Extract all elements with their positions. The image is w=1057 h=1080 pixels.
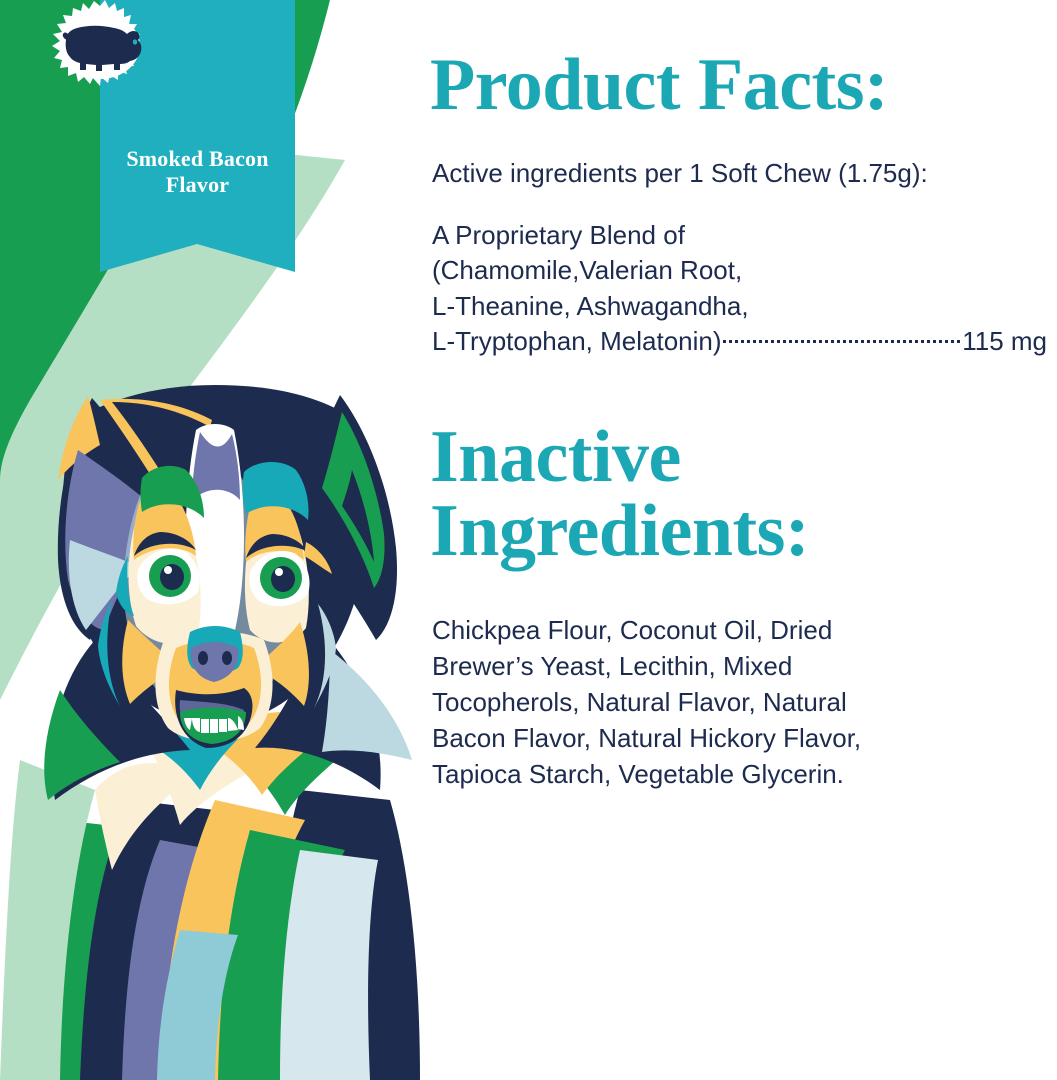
inactive-ingredients-heading: Inactive Ingredients: — [430, 420, 1057, 568]
inactive-line: Brewer’s Yeast, Lecithin, Mixed — [432, 649, 1032, 685]
flavor-label: Smoked Bacon Flavor — [100, 146, 295, 198]
flavor-line-1: Smoked Bacon — [100, 146, 295, 172]
flavor-ribbon-banner: Smoked Bacon Flavor — [100, 0, 295, 280]
active-line: A Proprietary Blend of — [432, 218, 1057, 253]
serving-line: Active ingredients per 1 Soft Chew (1.75… — [432, 157, 1057, 190]
inactive-heading-line-1: Inactive — [430, 420, 1057, 494]
inactive-line: Bacon Flavor, Natural Hickory Flavor, — [432, 721, 1032, 757]
active-amount-row: L-Tryptophan, Melatonin) 115 mg — [432, 324, 1047, 359]
sunburst-icon — [44, 0, 156, 86]
facts-content: Product Facts: Active ingredients per 1 … — [430, 0, 1057, 1080]
inactive-ingredients-list: Chickpea Flour, Coconut Oil, Dried Brewe… — [432, 613, 1032, 792]
inactive-line: Chickpea Flour, Coconut Oil, Dried — [432, 613, 1032, 649]
dog-graphic — [0, 385, 420, 1080]
product-facts-heading: Product Facts: — [430, 48, 1057, 122]
active-amount: 115 mg — [962, 324, 1047, 359]
inactive-heading-line-2: Ingredients: — [430, 494, 1057, 568]
active-ingredients-block: A Proprietary Blend of (Chamomile,Valeri… — [432, 218, 1057, 359]
active-line: (Chamomile,Valerian Root, — [432, 253, 1057, 288]
active-line: L-Theanine, Ashwagandha, — [432, 289, 1057, 324]
product-facts-label: Smoked Bacon Flavor Product Facts: Activ… — [0, 0, 1057, 1080]
flavor-line-2: Flavor — [100, 172, 295, 198]
active-line: L-Tryptophan, Melatonin) — [432, 324, 722, 359]
dot-leader — [723, 340, 961, 343]
inactive-line: Tapioca Starch, Vegetable Glycerin. — [432, 757, 1032, 793]
inactive-line: Tocopherols, Natural Flavor, Natural — [432, 685, 1032, 721]
